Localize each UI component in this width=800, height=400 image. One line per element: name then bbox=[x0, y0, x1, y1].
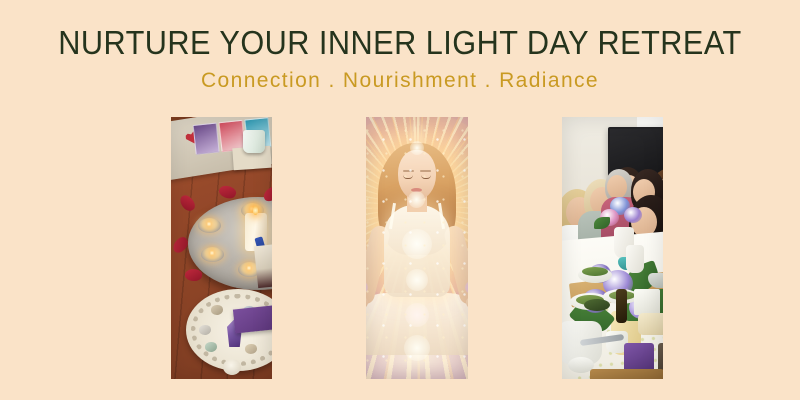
photo-shared-table bbox=[562, 117, 663, 379]
bread-basket bbox=[638, 313, 663, 335]
sparkle-overlay bbox=[366, 117, 467, 379]
photo-altar-artwork bbox=[171, 117, 272, 379]
hydrangea-bloom bbox=[624, 207, 642, 223]
page-subtitle: Connection . Nourishment . Radiance bbox=[0, 60, 800, 93]
ceramic-cup bbox=[243, 130, 265, 153]
photo-radiance-artwork bbox=[366, 117, 467, 379]
photo-altar bbox=[171, 117, 272, 379]
book-stack bbox=[254, 244, 272, 288]
page-title: NURTURE YOUR INNER LIGHT DAY RETREAT bbox=[28, 0, 772, 60]
photo-radiance bbox=[366, 117, 467, 379]
purple-journal bbox=[233, 305, 272, 334]
photo-gallery bbox=[131, 101, 703, 363]
guest-head bbox=[607, 175, 627, 199]
banner-header: NURTURE YOUR INNER LIGHT DAY RETREAT Con… bbox=[0, 0, 800, 93]
oil-bottle bbox=[616, 289, 627, 323]
tea-light-candle bbox=[198, 218, 221, 233]
crochet-rosette bbox=[223, 359, 241, 375]
photo-shared-table-artwork bbox=[562, 117, 663, 379]
napkin-holder bbox=[634, 289, 660, 315]
tea-light-candle bbox=[201, 247, 224, 262]
water-jug bbox=[626, 245, 644, 273]
salad-greens bbox=[582, 267, 608, 276]
wooden-tray bbox=[590, 369, 663, 379]
oracle-card bbox=[193, 123, 220, 155]
olive-dish bbox=[584, 299, 610, 311]
retreat-banner: NURTURE YOUR INNER LIGHT DAY RETREAT Con… bbox=[0, 0, 800, 400]
